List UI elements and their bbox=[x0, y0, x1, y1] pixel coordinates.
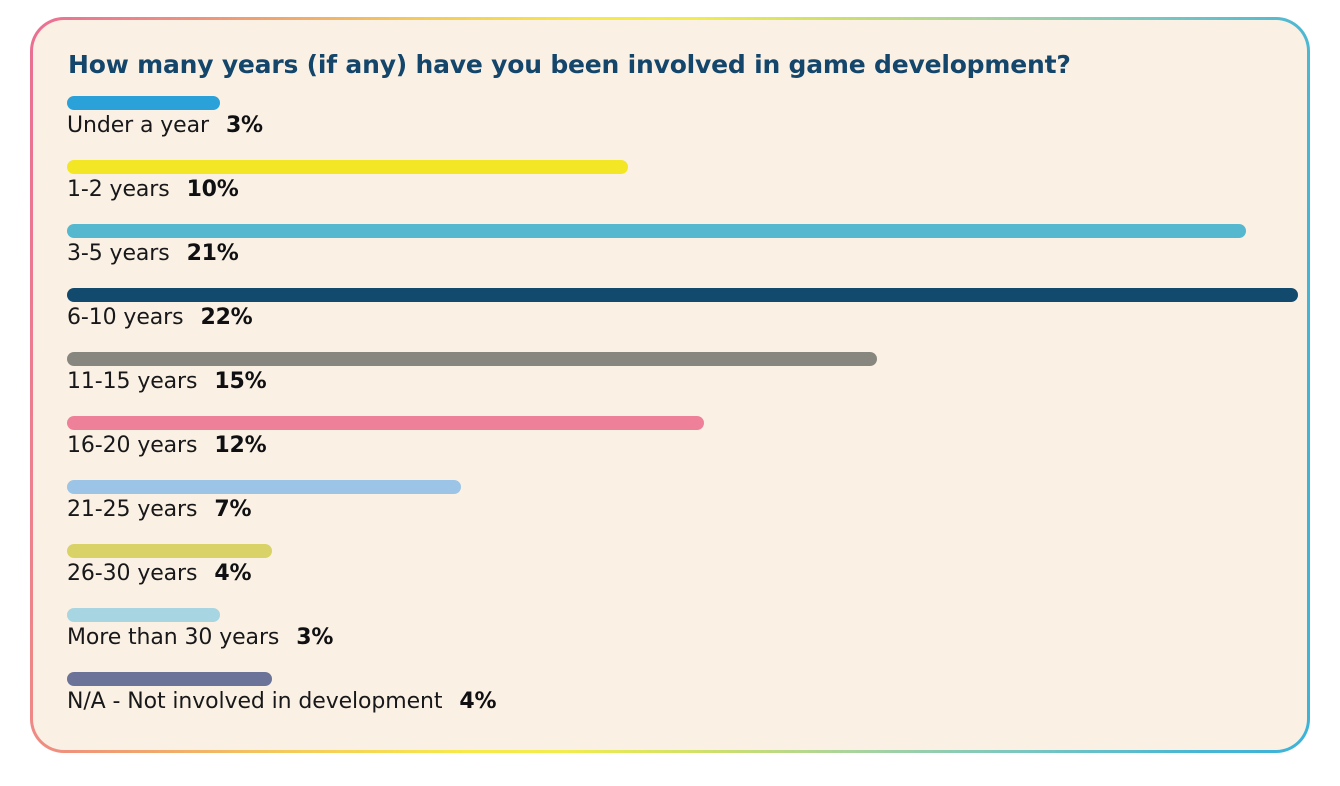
bar-category-label: 21-25 years bbox=[67, 497, 197, 522]
bar-fill bbox=[67, 416, 704, 430]
bar-track bbox=[67, 224, 1273, 238]
bar-value-label: 4% bbox=[214, 561, 251, 586]
bar-value-label: 22% bbox=[200, 305, 252, 330]
bar-value-label: 12% bbox=[214, 433, 266, 458]
bar-fill bbox=[67, 224, 1246, 238]
bar-category-label: N/A - Not involved in development bbox=[67, 689, 442, 714]
bar-fill bbox=[67, 672, 272, 686]
bar-row: 21-25 years7% bbox=[67, 480, 1273, 544]
bar-row: 3-5 years21% bbox=[67, 224, 1273, 288]
bar-fill bbox=[67, 352, 877, 366]
bar-track bbox=[67, 480, 1273, 494]
bar-track bbox=[67, 672, 1273, 686]
bar-label-line: 16-20 years12% bbox=[67, 433, 1273, 458]
bar-label-line: N/A - Not involved in development4% bbox=[67, 689, 1273, 714]
bar-category-label: 3-5 years bbox=[67, 241, 170, 266]
bar-label-line: 11-15 years15% bbox=[67, 369, 1273, 394]
bar-fill bbox=[67, 160, 628, 174]
bar-label-line: 1-2 years10% bbox=[67, 177, 1273, 202]
bar-value-label: 15% bbox=[214, 369, 266, 394]
bar-label-line: 21-25 years7% bbox=[67, 497, 1273, 522]
bar-value-label: 7% bbox=[214, 497, 251, 522]
bar-label-line: Under a year3% bbox=[67, 113, 1273, 138]
bar-row: More than 30 years3% bbox=[67, 608, 1273, 672]
bar-track bbox=[67, 352, 1273, 366]
bar-category-label: 6-10 years bbox=[67, 305, 183, 330]
bar-category-label: 16-20 years bbox=[67, 433, 197, 458]
bar-row: 16-20 years12% bbox=[67, 416, 1273, 480]
bar-row: Under a year3% bbox=[67, 96, 1273, 160]
bar-category-label: 26-30 years bbox=[67, 561, 197, 586]
bar-label-line: 6-10 years22% bbox=[67, 305, 1273, 330]
bar-label-line: More than 30 years3% bbox=[67, 625, 1273, 650]
bar-value-label: 10% bbox=[187, 177, 239, 202]
bar-track bbox=[67, 96, 1273, 110]
bar-label-line: 26-30 years4% bbox=[67, 561, 1273, 586]
bar-fill bbox=[67, 96, 220, 110]
bar-value-label: 3% bbox=[226, 113, 263, 138]
chart-card: How many years (if any) have you been in… bbox=[30, 17, 1310, 753]
chart-card-inner: How many years (if any) have you been in… bbox=[33, 20, 1307, 750]
bar-value-label: 3% bbox=[296, 625, 333, 650]
bar-fill bbox=[67, 480, 461, 494]
bar-value-label: 21% bbox=[187, 241, 239, 266]
bar-row: 6-10 years22% bbox=[67, 288, 1273, 352]
bar-track bbox=[67, 416, 1273, 430]
bar-row: N/A - Not involved in development4% bbox=[67, 672, 1273, 736]
bar-category-label: More than 30 years bbox=[67, 625, 279, 650]
bar-row: 11-15 years15% bbox=[67, 352, 1273, 416]
bar-track bbox=[67, 608, 1273, 622]
bar-fill bbox=[67, 288, 1298, 302]
bar-track bbox=[67, 544, 1273, 558]
bar-category-label: 1-2 years bbox=[67, 177, 170, 202]
bar-chart-rows: Under a year3%1-2 years10%3-5 years21%6-… bbox=[67, 96, 1273, 736]
bar-fill bbox=[67, 544, 272, 558]
bar-row: 26-30 years4% bbox=[67, 544, 1273, 608]
chart-title: How many years (if any) have you been in… bbox=[68, 50, 1273, 80]
bar-value-label: 4% bbox=[459, 689, 496, 714]
bar-track bbox=[67, 160, 1273, 174]
bar-category-label: 11-15 years bbox=[67, 369, 197, 394]
bar-category-label: Under a year bbox=[67, 113, 209, 138]
bar-fill bbox=[67, 608, 220, 622]
bar-row: 1-2 years10% bbox=[67, 160, 1273, 224]
bar-track bbox=[67, 288, 1273, 302]
bar-label-line: 3-5 years21% bbox=[67, 241, 1273, 266]
